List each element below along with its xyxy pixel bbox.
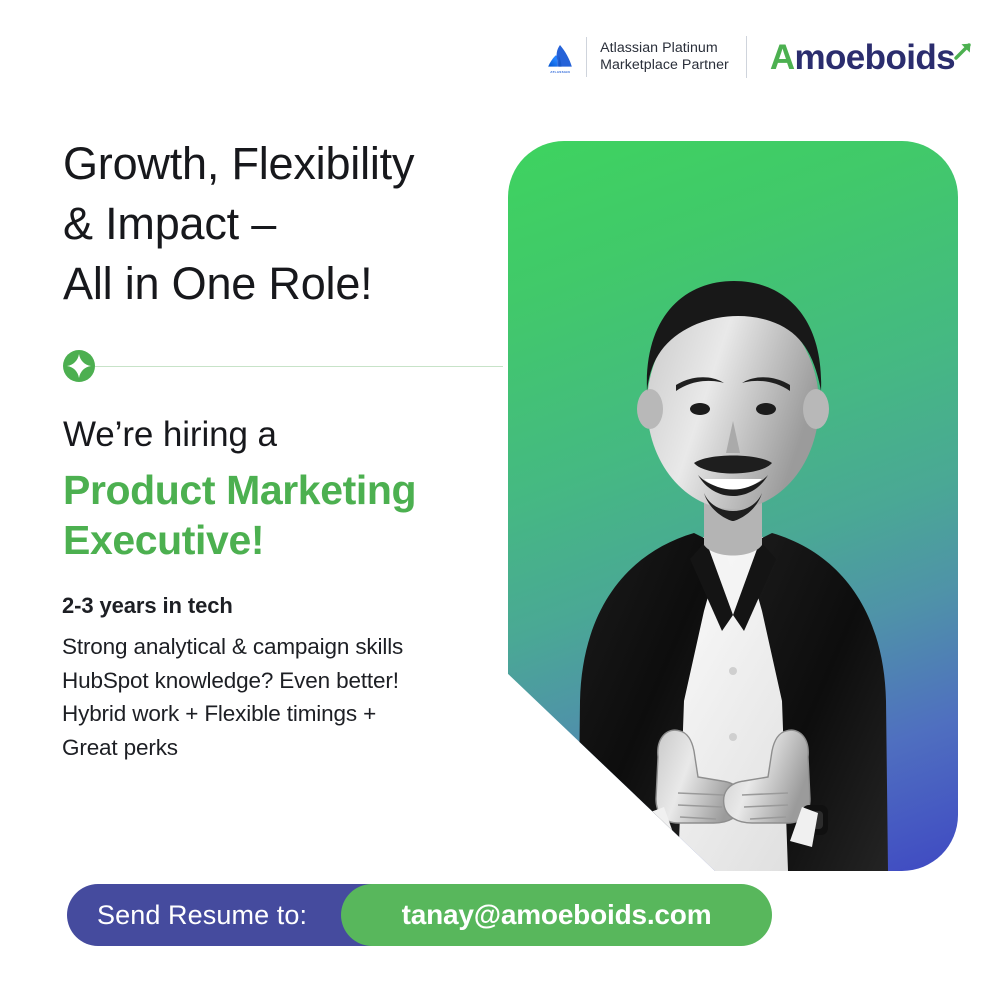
headline-line-2: & Impact –: [63, 194, 533, 254]
smiling-man-thumbs-up-photo: [508, 141, 958, 871]
headline-line-1: Growth, Flexibility: [63, 134, 533, 194]
requirement-item: HubSpot knowledge? Even better!: [62, 664, 532, 698]
photo-panel: [508, 141, 958, 871]
header-divider: [746, 36, 747, 78]
requirement-item: Hybrid work + Flexible timings +: [62, 697, 532, 731]
contact-email[interactable]: tanay@amoeboids.com: [402, 901, 712, 929]
send-resume-label: Send Resume to:: [97, 902, 307, 929]
job-title: Product Marketing Executive!: [63, 465, 533, 565]
atlassian-logo-icon: ATLASSIAN: [545, 41, 575, 73]
atlassian-wordmark: ATLASSIAN: [545, 71, 575, 74]
amoeboids-accent-letter: A: [770, 40, 795, 75]
atlassian-partner-text: Atlassian Platinum Marketplace Partner: [600, 40, 729, 73]
job-title-line-1: Product Marketing: [63, 465, 533, 515]
requirement-item: Strong analytical & campaign skills: [62, 630, 532, 664]
hiring-lead-text: We’re hiring a: [63, 411, 533, 459]
requirement-highlight: 2-3 years in tech: [62, 591, 532, 621]
amoeboids-logo: Amoeboids: [770, 40, 961, 75]
requirements-list: 2-3 years in tech Strong analytical & ca…: [62, 591, 532, 764]
section-divider: [63, 348, 503, 384]
headline: Growth, Flexibility & Impact – All in On…: [63, 134, 533, 314]
email-pill[interactable]: tanay@amoeboids.com: [341, 884, 772, 946]
green-star-badge-icon: [63, 350, 95, 382]
amoeboids-wordmark: moeboids: [795, 40, 956, 75]
hiring-block: We’re hiring a Product Marketing Executi…: [63, 411, 533, 565]
badge-divider: [586, 37, 587, 77]
job-title-line-2: Executive!: [63, 515, 533, 565]
header-logos: ATLASSIAN Atlassian Platinum Marketplace…: [545, 33, 961, 81]
growth-arrow-icon: [952, 33, 974, 55]
partner-line-2: Marketplace Partner: [600, 57, 729, 73]
requirement-item: Great perks: [62, 731, 532, 765]
job-ad-poster: ATLASSIAN Atlassian Platinum Marketplace…: [0, 0, 999, 999]
divider-line: [95, 366, 503, 367]
headline-line-3: All in One Role!: [63, 254, 533, 314]
atlassian-partner-badge: ATLASSIAN Atlassian Platinum Marketplace…: [545, 35, 746, 79]
cta-bar: Send Resume to: tanay@amoeboids.com: [67, 884, 772, 946]
partner-line-1: Atlassian Platinum: [600, 40, 718, 56]
